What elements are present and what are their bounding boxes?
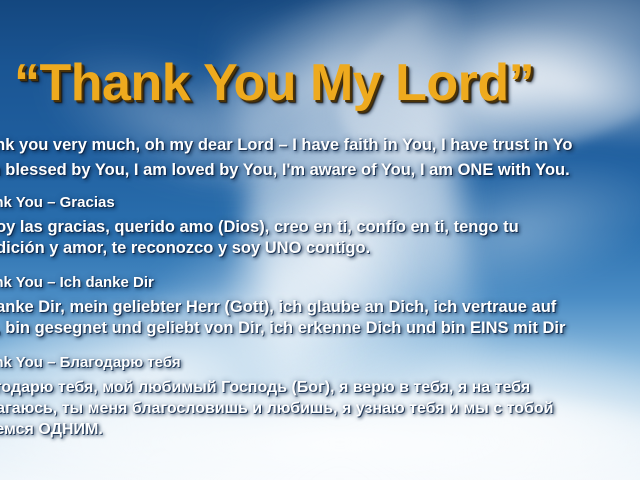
text-block-english: ank you very much, oh my dear Lord – I h… bbox=[0, 133, 640, 183]
text-block-russian: ank You – Благодарю тебя агодарю тебя, м… bbox=[0, 353, 640, 440]
german-line-2: h, bin gesegnet und geliebt von Dir, ich… bbox=[0, 318, 640, 339]
spanish-line-2: ndición y amor, te reconozco y soy UNO c… bbox=[0, 238, 640, 259]
english-line-1: ank you very much, oh my dear Lord – I h… bbox=[0, 133, 640, 158]
english-line-2: m blessed by You, I am loved by You, I'm… bbox=[0, 158, 640, 183]
german-line-1: danke Dir, mein geliebter Herr (Gott), i… bbox=[0, 297, 640, 318]
text-block-german: ank You – Ich danke Dir danke Dir, mein … bbox=[0, 273, 640, 339]
spanish-line-1: doy las gracias, querido amo (Dios), cre… bbox=[0, 217, 640, 238]
russian-heading: ank You – Благодарю тебя bbox=[0, 353, 640, 373]
russian-line-2: лагаюсь, ты меня благословишь и любишь, … bbox=[0, 398, 640, 419]
german-heading: ank You – Ich danke Dir bbox=[0, 273, 640, 293]
slide-title: “Thank You My Lord” bbox=[14, 57, 634, 110]
spanish-heading: ank You – Gracias bbox=[0, 193, 640, 213]
russian-line-1: агодарю тебя, мой любимый Господь (Бог),… bbox=[0, 377, 640, 398]
text-block-spanish: ank You – Gracias doy las gracias, queri… bbox=[0, 193, 640, 259]
slide-canvas: “Thank You My Lord” ank you very much, o… bbox=[0, 0, 640, 480]
russian-line-3: яемся ОДНИМ. bbox=[0, 419, 640, 440]
